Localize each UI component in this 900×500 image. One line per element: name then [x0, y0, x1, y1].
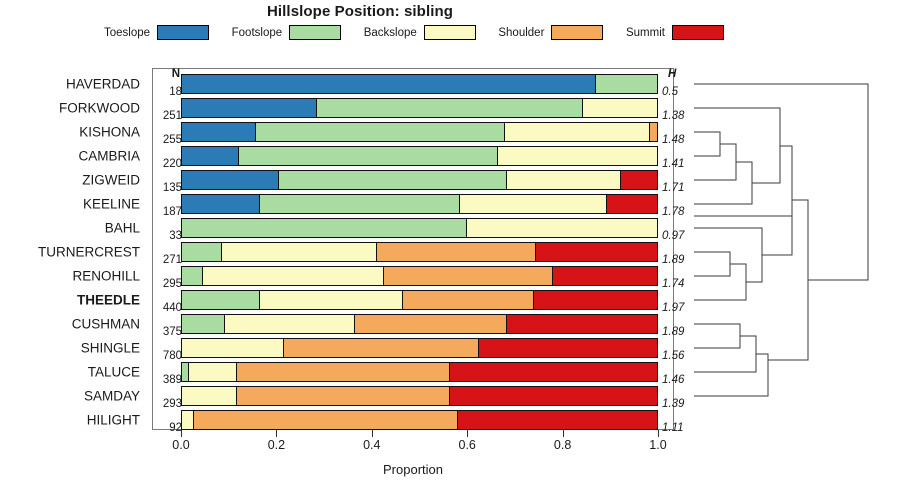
- bar-row: [181, 194, 658, 214]
- bar-segment: [479, 339, 657, 357]
- bar-segment: [377, 243, 536, 261]
- x-tick-label: 0.6: [458, 438, 475, 452]
- bar-segment: [596, 75, 657, 93]
- bar-segment: [182, 267, 203, 285]
- bar-segment: [284, 339, 479, 357]
- bar-segment: [225, 315, 356, 333]
- bar-segment: [507, 171, 621, 189]
- bar-segment: [450, 363, 657, 381]
- bar-segment: [317, 99, 583, 117]
- bar-segment: [182, 363, 189, 381]
- bar-row: [181, 146, 658, 166]
- bar-row: [181, 74, 658, 94]
- bar-row: [181, 122, 658, 142]
- bar-segment: [650, 123, 657, 141]
- bar-row: [181, 170, 658, 190]
- bar-segment: [384, 267, 553, 285]
- bar-row: [181, 410, 658, 430]
- bar-segment: [182, 411, 194, 429]
- bar-row: [181, 98, 658, 118]
- bar-segment: [279, 171, 507, 189]
- x-tick-label: 0.2: [268, 438, 285, 452]
- bar-row: [181, 218, 658, 238]
- bar-segment: [621, 171, 657, 189]
- bar-segment: [467, 219, 657, 237]
- bar-segment: [182, 339, 284, 357]
- bar-segment: [607, 195, 657, 213]
- bar-row: [181, 386, 658, 406]
- bar-row: [181, 290, 658, 310]
- bar-segment: [260, 195, 460, 213]
- x-tick-mark: [181, 430, 182, 437]
- x-tick-mark: [276, 430, 277, 437]
- bar-segment: [182, 315, 225, 333]
- bar-segment: [505, 123, 650, 141]
- bar-segment: [450, 387, 657, 405]
- x-tick-mark: [467, 430, 468, 437]
- bar-segment: [182, 171, 279, 189]
- bar-segment: [182, 291, 260, 309]
- x-tick-mark: [563, 430, 564, 437]
- bar-segment: [182, 195, 260, 213]
- bar-segment: [507, 315, 657, 333]
- bar-segment: [189, 363, 237, 381]
- bar-segment: [182, 147, 239, 165]
- x-tick-label: 0.4: [363, 438, 380, 452]
- bar-row: [181, 242, 658, 262]
- x-tick-mark: [372, 430, 373, 437]
- bar-segment: [498, 147, 657, 165]
- x-tick-label: 1.0: [649, 438, 666, 452]
- bar-segment: [237, 387, 451, 405]
- bar-segment: [182, 387, 237, 405]
- bar-row: [181, 314, 658, 334]
- bar-segment: [458, 411, 658, 429]
- x-tick-mark: [658, 430, 659, 437]
- bar-segment: [536, 243, 657, 261]
- bar-segment: [182, 99, 317, 117]
- bar-row: [181, 266, 658, 286]
- bar-segment: [182, 75, 596, 93]
- x-tick-label: 0.0: [172, 438, 189, 452]
- bar-segment: [203, 267, 384, 285]
- bar-segment: [237, 363, 451, 381]
- dendrogram: [690, 60, 895, 440]
- bar-segment: [355, 315, 507, 333]
- bar-segment: [256, 123, 505, 141]
- bar-segment: [583, 99, 657, 117]
- bar-segment: [534, 291, 658, 309]
- bar-row: [181, 362, 658, 382]
- bar-segment: [239, 147, 498, 165]
- bar-segment: [403, 291, 534, 309]
- x-tick-label: 0.8: [554, 438, 571, 452]
- bar-segment: [553, 267, 658, 285]
- x-axis-label: Proportion: [152, 462, 674, 477]
- bar-segment: [460, 195, 607, 213]
- bar-segment: [182, 219, 467, 237]
- bar-segment: [182, 243, 222, 261]
- bar-segment: [260, 291, 403, 309]
- bar-segment: [182, 123, 256, 141]
- bar-segment: [222, 243, 376, 261]
- bar-row: [181, 338, 658, 358]
- bar-segment: [194, 411, 458, 429]
